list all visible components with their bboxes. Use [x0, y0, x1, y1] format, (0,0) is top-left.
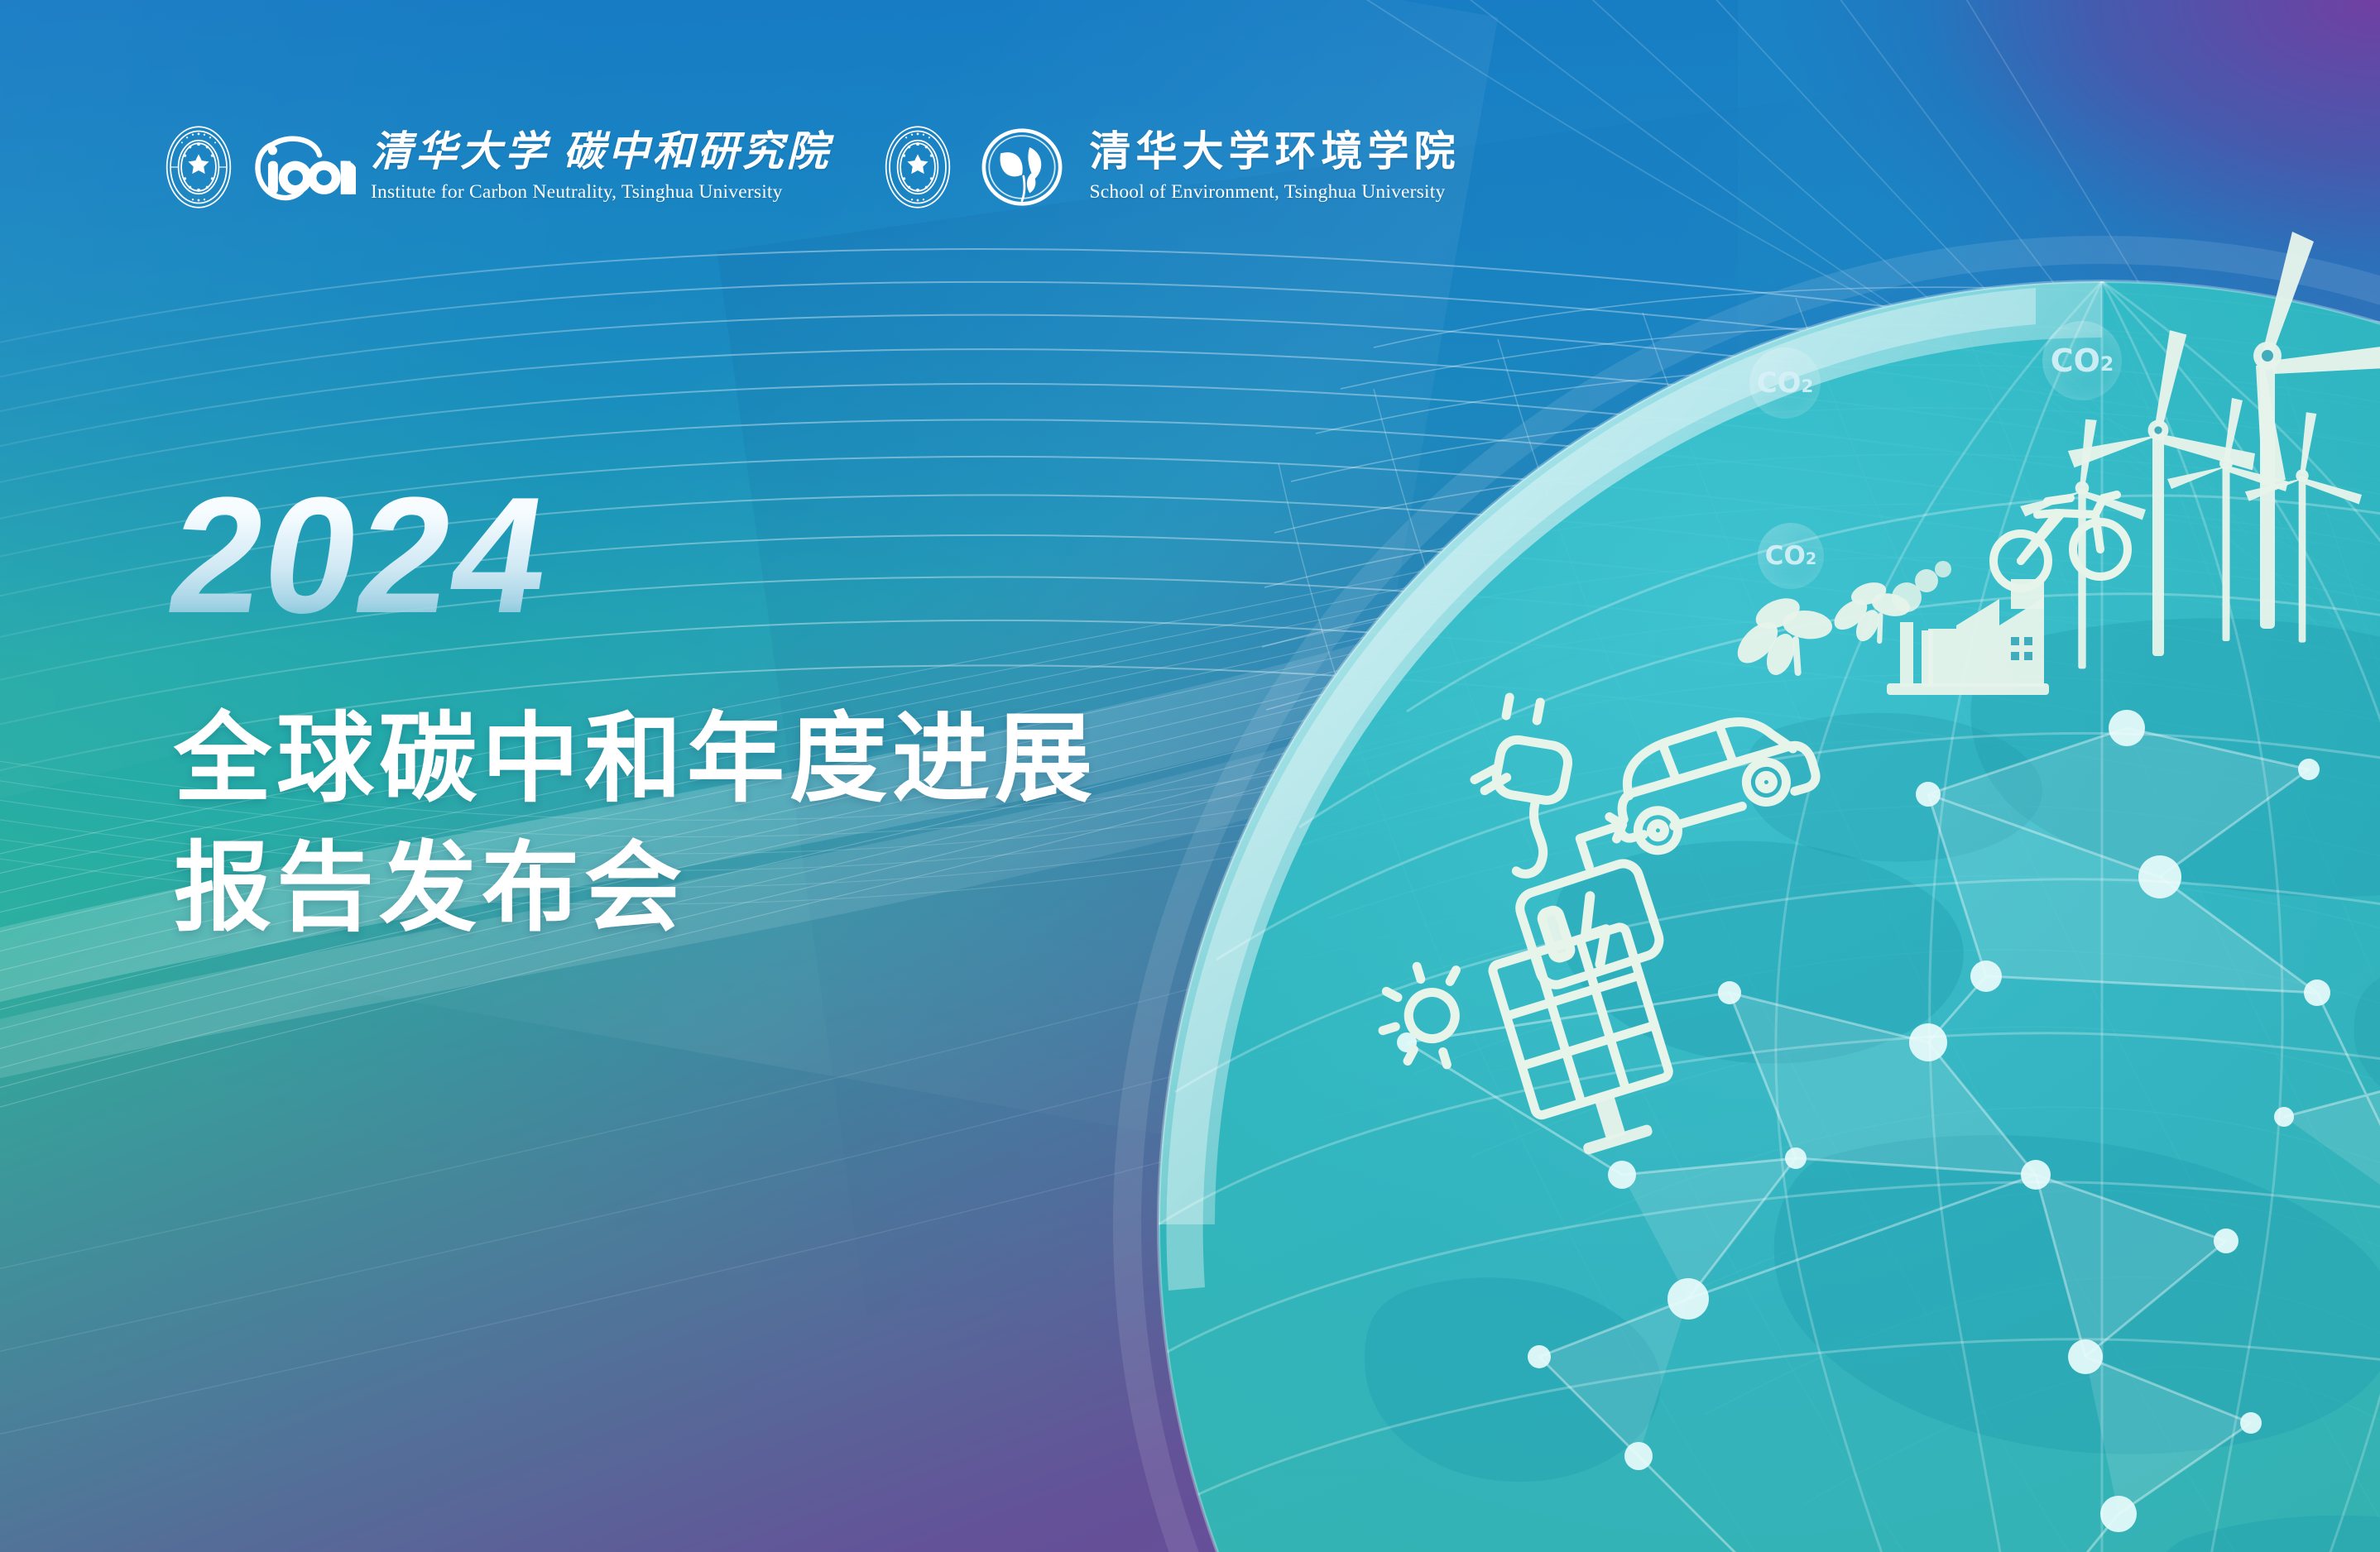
wind-turbine-icon	[2020, 419, 2146, 669]
institute-name-block: 清华大学 碳中和研究院 Institute for Carbon Neutral…	[371, 130, 832, 204]
school-name-cn: 清华大学环境学院	[1090, 130, 1461, 174]
solar-panel-sun-icon	[1368, 905, 1685, 1201]
bicycle-icon	[1994, 495, 2128, 588]
co2-subscript: 2	[1806, 549, 1816, 568]
institute-name-en: Institute for Carbon Neutrality, Tsinghu…	[371, 180, 832, 204]
tsinghua-university-seal-icon	[881, 122, 954, 212]
page-title: 全球碳中和年度进展 报告发布会	[174, 695, 1097, 953]
institute-for-carbon-neutrality-logo: 清华大学 碳中和研究院 Institute for Carbon Neutral…	[162, 122, 832, 212]
co2-label: CO	[2051, 342, 2100, 379]
title-line-2: 报告发布会	[174, 824, 1097, 953]
poster-canvas: CO2 CO2 CO2	[0, 0, 2380, 1552]
purple-corner-glow	[1346, 0, 2380, 463]
year-heading: 2024	[159, 473, 560, 639]
co2-label: CO	[1765, 541, 1806, 571]
co2-bubble: CO2	[1758, 523, 1824, 589]
leaf-pair-icon	[1719, 573, 1920, 694]
school-name-block: 清华大学环境学院 School of Environment, Tsinghua…	[1090, 130, 1461, 204]
leaf-emblem-icon	[969, 127, 1075, 207]
co2-subscript: 2	[1802, 376, 1814, 396]
co2-bubble: CO2	[2042, 321, 2122, 400]
wind-turbine-icon	[2167, 398, 2288, 641]
battery-charge-icon	[1501, 814, 1663, 989]
title-line-1: 全球碳中和年度进展	[174, 695, 1097, 824]
logo-bar: 清华大学 碳中和研究院 Institute for Carbon Neutral…	[162, 122, 1461, 212]
wind-turbine-icon	[2245, 412, 2362, 642]
wind-turbine-icon	[2253, 232, 2380, 629]
co2-bubble: CO2	[1749, 347, 1821, 419]
co2-subscript: 2	[2100, 352, 2114, 376]
school-name-en: School of Environment, Tsinghua Universi…	[1090, 180, 1461, 204]
institute-name-cn: 清华大学 碳中和研究院	[371, 130, 832, 174]
co2-label: CO	[1757, 366, 1802, 400]
school-of-environment-logo: 清华大学环境学院 School of Environment, Tsinghua…	[881, 122, 1461, 212]
factory-icon	[1887, 561, 2049, 695]
tsinghua-university-seal-icon	[162, 122, 235, 212]
electric-car-plug-icon	[1456, 622, 1824, 894]
icon-wordmark-icon	[250, 127, 356, 207]
